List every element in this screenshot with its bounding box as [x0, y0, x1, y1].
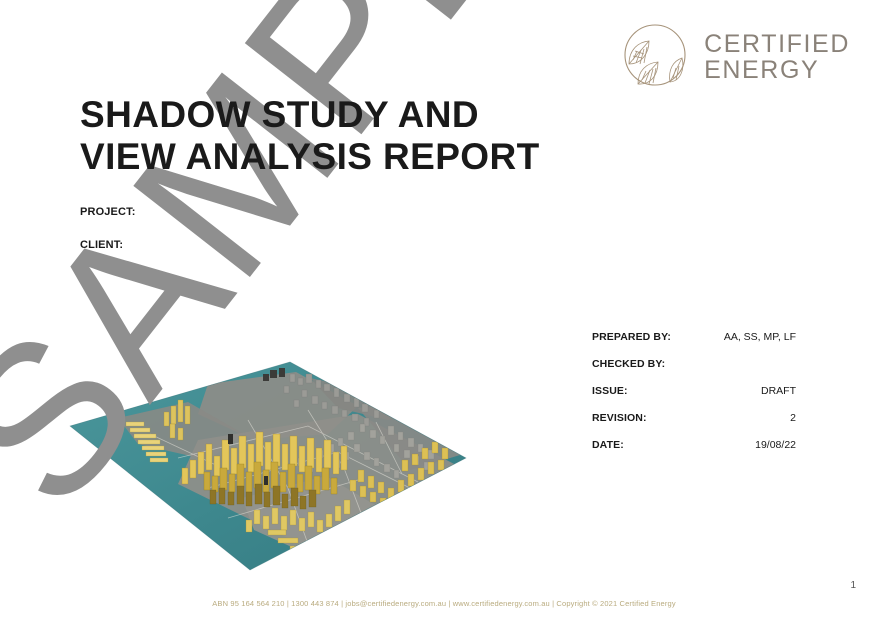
circle-leaf-icon — [618, 20, 692, 94]
roof-accents — [426, 426, 452, 438]
metadata-row-revision: REVISION: 2 — [592, 412, 796, 439]
metadata-row-date: DATE: 19/08/22 — [592, 439, 796, 466]
logo-line-1: CERTIFIED — [704, 31, 850, 58]
date-value: 19/08/22 — [755, 439, 796, 451]
project-label: PROJECT: — [80, 206, 136, 218]
logo-wordmark: CERTIFIED ENERGY — [704, 31, 850, 84]
client-label: CLIENT: — [80, 239, 123, 251]
page-title-line-2: VIEW ANALYSIS REPORT — [80, 136, 540, 178]
issue-value: DRAFT — [761, 385, 796, 397]
page-number: 1 — [850, 580, 856, 591]
prepared-by-label: PREPARED BY: — [592, 331, 671, 343]
page-title: SHADOW STUDY AND VIEW ANALYSIS REPORT — [80, 94, 540, 178]
issue-label: ISSUE: — [592, 385, 628, 397]
revision-label: REVISION: — [592, 412, 647, 424]
metadata-row-checked-by: CHECKED BY: — [592, 358, 796, 385]
logo-line-2: ENERGY — [704, 57, 850, 84]
page-title-line-1: SHADOW STUDY AND — [80, 94, 540, 136]
company-logo: CERTIFIED ENERGY — [618, 20, 850, 94]
checked-by-label: CHECKED BY: — [592, 358, 665, 370]
report-metadata: PREPARED BY: AA, SS, MP, LF CHECKED BY: … — [592, 331, 796, 466]
metadata-row-issue: ISSUE: DRAFT — [592, 385, 796, 412]
project-field-row: PROJECT: — [80, 206, 146, 218]
page-footer: ABN 95 164 564 210 | 1300 443 874 | jobs… — [0, 593, 888, 611]
report-cover-page: SAMPLE — [0, 0, 888, 627]
isometric-city-model-figure — [58, 348, 478, 580]
project-details: PROJECT: CLIENT: — [80, 206, 146, 272]
revision-value: 2 — [790, 412, 796, 424]
metadata-row-prepared-by: PREPARED BY: AA, SS, MP, LF — [592, 331, 796, 358]
footer-contact-text: ABN 95 164 564 210 | 1300 443 874 | jobs… — [212, 599, 675, 608]
prepared-by-value: AA, SS, MP, LF — [724, 331, 796, 343]
client-field-row: CLIENT: — [80, 239, 146, 251]
date-label: DATE: — [592, 439, 624, 451]
